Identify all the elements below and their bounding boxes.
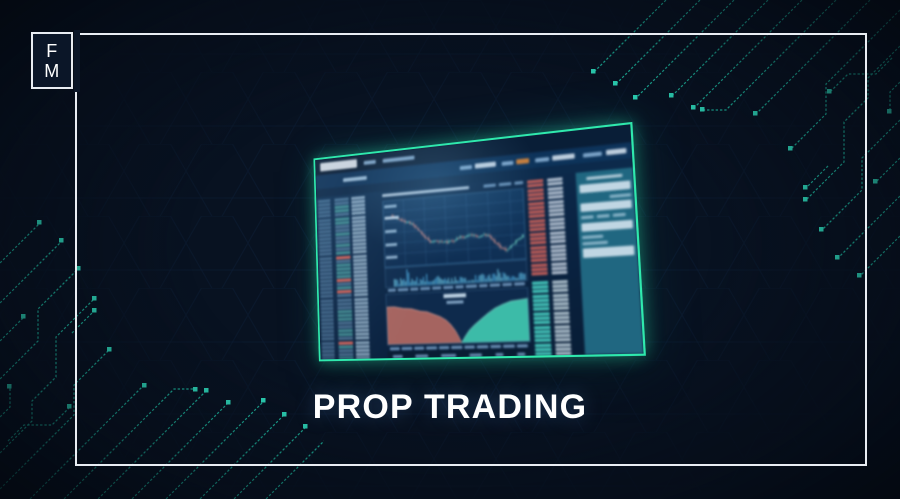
orderbook-row[interactable]: [339, 345, 354, 348]
orderbook-row[interactable]: [338, 321, 353, 324]
orderbook-row[interactable]: [339, 353, 354, 356]
ticker-24h-chg-value: [516, 158, 529, 164]
orderbook-row[interactable]: [353, 254, 367, 258]
orderbook-bid-row[interactable]: [552, 284, 568, 288]
orderbook-row[interactable]: [355, 317, 369, 320]
order-submit-button[interactable]: [583, 245, 635, 258]
orderbook-ask-row[interactable]: [531, 259, 547, 263]
orderbook-bid-row[interactable]: [534, 316, 550, 320]
circuit-decoration-bottom-left: [0, 205, 324, 499]
orderbook-bid-row[interactable]: [555, 329, 571, 333]
orderbook-ask-row[interactable]: [550, 226, 565, 230]
orderbook-bid-row[interactable]: [534, 325, 550, 329]
orderbook-row[interactable]: [339, 341, 354, 344]
orderbook-row[interactable]: [338, 318, 353, 321]
orderbook-row[interactable]: [337, 298, 351, 302]
orderbook-row[interactable]: [321, 307, 334, 310]
orderbook-ask-row[interactable]: [547, 182, 562, 186]
orderbook-bid-row[interactable]: [553, 302, 569, 306]
order-amount-input[interactable]: [580, 199, 632, 212]
orderbook-ask-row[interactable]: [551, 262, 567, 266]
orderbook-bid-row[interactable]: [533, 307, 549, 311]
orderbook-row[interactable]: [322, 357, 335, 359]
timeframe-1h[interactable]: [514, 181, 523, 185]
orderbook-bid-row[interactable]: [552, 280, 568, 284]
footer-tab-open-orders[interactable]: [416, 354, 429, 357]
orderbook-bid-row[interactable]: [535, 339, 551, 343]
orderbook-row[interactable]: [337, 294, 351, 298]
orderbook-row[interactable]: [321, 310, 334, 313]
orderbook-row[interactable]: [355, 321, 369, 324]
orderbook-ask-row[interactable]: [530, 241, 546, 245]
order-entry-panel[interactable]: [576, 167, 644, 354]
orderbook-bid-row[interactable]: [556, 352, 572, 355]
orderbook-bid-row[interactable]: [534, 330, 550, 334]
orderbook-ask-row[interactable]: [550, 231, 566, 235]
orderbook-row[interactable]: [355, 313, 369, 316]
order-total-input[interactable]: [581, 220, 633, 232]
orderbook-bid-row[interactable]: [532, 285, 548, 289]
orderbook-row[interactable]: [321, 322, 334, 325]
orderbook-bid-row[interactable]: [533, 312, 549, 316]
orderbook-row[interactable]: [356, 345, 370, 348]
orderbook-ask-row[interactable]: [530, 245, 546, 249]
orderbook-left[interactable]: [316, 192, 386, 360]
orderbook-row[interactable]: [354, 293, 368, 297]
orderbook-bid-row[interactable]: [554, 325, 570, 329]
orderbook-row[interactable]: [353, 250, 367, 254]
candlestick-chart[interactable]: [382, 188, 527, 268]
order-panel-title: [586, 174, 622, 180]
orderbook-row[interactable]: [339, 349, 354, 352]
timeframe-1m[interactable]: [483, 184, 496, 188]
orderbook-bid-row[interactable]: [532, 281, 548, 285]
orderbook-row[interactable]: [353, 258, 367, 262]
orderbook-row[interactable]: [338, 333, 353, 336]
orderbook-bid-row[interactable]: [535, 352, 551, 355]
orderbook-row[interactable]: [353, 262, 367, 266]
orderbook-row[interactable]: [355, 337, 369, 340]
orderbook-row[interactable]: [322, 353, 335, 356]
orderbook-bid-row[interactable]: [553, 307, 569, 311]
orderbook-row[interactable]: [356, 341, 370, 344]
orderbook-bid-row[interactable]: [555, 334, 571, 338]
orderbook-row[interactable]: [337, 306, 352, 309]
page-title: PROP TRADING: [0, 388, 900, 427]
orderbook-bid-row[interactable]: [556, 357, 572, 360]
orderbook-ask-row[interactable]: [552, 266, 568, 270]
orderbook-bid-row[interactable]: [554, 320, 570, 324]
orderbook-bid-row[interactable]: [533, 298, 549, 302]
orderbook-bid-row[interactable]: [555, 338, 571, 342]
ticker-24h-vol-value: [552, 153, 575, 160]
chart-area: [380, 178, 533, 359]
orderbook-bid-row[interactable]: [534, 321, 550, 325]
market-depth-chart[interactable]: [385, 287, 530, 345]
orderbook-bid-row[interactable]: [536, 357, 552, 359]
orderbook-row[interactable]: [321, 330, 334, 333]
monitor-bezel: [313, 122, 645, 361]
timeframe-5m[interactable]: [499, 182, 512, 186]
nav-item-trade[interactable]: [364, 159, 376, 164]
order-amount-label: [609, 193, 631, 198]
orderbook-row[interactable]: [321, 314, 334, 317]
orderbook-ask-row[interactable]: [549, 213, 564, 217]
ticker-24h-high-label: [460, 165, 472, 170]
footer-tab-fills[interactable]: [469, 353, 481, 356]
orderbook-row[interactable]: [336, 251, 350, 255]
orderbook-row[interactable]: [318, 214, 330, 218]
orderbook-bid-row[interactable]: [535, 348, 551, 351]
orderbook-row[interactable]: [354, 297, 368, 301]
orderbook-row[interactable]: [354, 301, 368, 304]
orderbook-col-amount: [351, 195, 372, 357]
ticker-24h-vol-label: [535, 156, 549, 162]
ticker-settings[interactable]: [583, 151, 602, 157]
orderbook-row[interactable]: [320, 260, 333, 264]
orderbook-bid-row[interactable]: [554, 316, 570, 320]
account-balance: [606, 148, 627, 155]
footer-tab-more[interactable]: [517, 353, 525, 356]
orderbook-row[interactable]: [338, 314, 353, 317]
orderbook-ask-row[interactable]: [531, 272, 547, 276]
order-pct-100[interactable]: [613, 213, 626, 217]
orderbook-row[interactable]: [339, 357, 354, 360]
order-price-input[interactable]: [579, 180, 630, 193]
broker-logo-block: [320, 159, 357, 171]
ticker-24h-chg-label: [502, 160, 514, 165]
order-pct-50[interactable]: [597, 214, 610, 218]
orderbook-row[interactable]: [338, 337, 353, 340]
orderbook-row[interactable]: [321, 299, 334, 302]
footer-tab-alerts[interactable]: [495, 353, 503, 356]
orderbook-ask-row[interactable]: [531, 254, 547, 258]
orderbook-row[interactable]: [338, 329, 353, 332]
orderbook-bid-row[interactable]: [555, 348, 571, 351]
orderbook-ask-row[interactable]: [531, 267, 547, 271]
orderbook-rows: [351, 196, 372, 360]
orderbook-bid-row[interactable]: [533, 303, 549, 307]
orderbook-bid-row[interactable]: [553, 298, 569, 302]
fm-logo: F M: [31, 32, 73, 89]
orderbook-row[interactable]: [321, 326, 334, 329]
orderbook-bid-row[interactable]: [553, 293, 569, 297]
orderbook-row[interactable]: [322, 338, 335, 341]
orderbook-ask-row[interactable]: [529, 228, 545, 232]
orderbook-row[interactable]: [354, 305, 368, 308]
orderbook-ask-row[interactable]: [550, 240, 566, 244]
orderbook-bid-row[interactable]: [533, 294, 549, 298]
order-fee-label: [582, 241, 608, 246]
poster-background: F M PROP TRADING: [0, 0, 900, 499]
orderbook-ask-row[interactable]: [550, 244, 566, 248]
orderbook-bid-row[interactable]: [532, 289, 548, 293]
orderbook-row[interactable]: [322, 349, 335, 352]
orderbook-row[interactable]: [338, 325, 353, 328]
nav-item-markets[interactable]: [383, 155, 415, 162]
orderbook-row[interactable]: [355, 325, 369, 328]
orderbook-ask-row[interactable]: [551, 257, 567, 261]
orderbook-row[interactable]: [356, 353, 370, 356]
order-pct-25[interactable]: [581, 215, 594, 219]
orderbook-ask-row[interactable]: [528, 197, 544, 201]
terminal-body: [316, 167, 643, 359]
orderbook-bid-row[interactable]: [534, 334, 550, 338]
ticker-pair-label: [343, 175, 367, 181]
orderbook-row[interactable]: [336, 255, 350, 259]
orderbook-bid-row[interactable]: [553, 289, 569, 293]
orderbook-row[interactable]: [336, 259, 350, 263]
orderbook-row[interactable]: [320, 295, 333, 298]
orderbook-ask-row[interactable]: [531, 263, 547, 267]
orderbook-ask-row[interactable]: [551, 248, 567, 252]
logo-letter-m: M: [44, 62, 60, 80]
orderbook-row[interactable]: [322, 345, 335, 348]
orderbook-ask-row[interactable]: [548, 195, 563, 199]
orderbook-row[interactable]: [338, 310, 353, 313]
orderbook-ask-row[interactable]: [530, 250, 546, 254]
logo-letter-f: F: [46, 42, 58, 60]
orderbook-row[interactable]: [319, 253, 332, 257]
frame-logo-gap: [74, 30, 80, 92]
orderbook-row[interactable]: [322, 334, 335, 337]
orderbook-row[interactable]: [337, 302, 352, 305]
orderbook-row[interactable]: [355, 309, 369, 312]
orderbook-row[interactable]: [355, 333, 369, 336]
orderbook-row[interactable]: [320, 264, 333, 268]
orderbook-row[interactable]: [356, 349, 370, 352]
ticker-24h-high-value: [475, 162, 496, 169]
trading-terminal-monitor: [296, 140, 636, 358]
orderbook-row[interactable]: [321, 318, 334, 321]
footer-tab-positions[interactable]: [393, 355, 403, 358]
orderbook-row[interactable]: [321, 303, 334, 306]
footer-tab-order-history[interactable]: [441, 354, 456, 357]
orderbook-bid-row[interactable]: [535, 343, 551, 347]
orderbook-bid-row[interactable]: [555, 343, 571, 347]
orderbook-ask-row[interactable]: [529, 214, 545, 218]
order-avail-label: [582, 235, 603, 240]
terminal-screen: [315, 124, 643, 359]
orderbook-ask-row[interactable]: [551, 253, 567, 257]
orderbook-row[interactable]: [355, 329, 369, 332]
orderbook-row[interactable]: [322, 342, 335, 345]
orderbook-bid-row[interactable]: [554, 311, 570, 315]
orderbook-row[interactable]: [319, 256, 332, 260]
orderbook-ask-row[interactable]: [550, 235, 566, 239]
orderbook-ask-row[interactable]: [552, 271, 568, 275]
orderbook-row[interactable]: [356, 357, 370, 360]
